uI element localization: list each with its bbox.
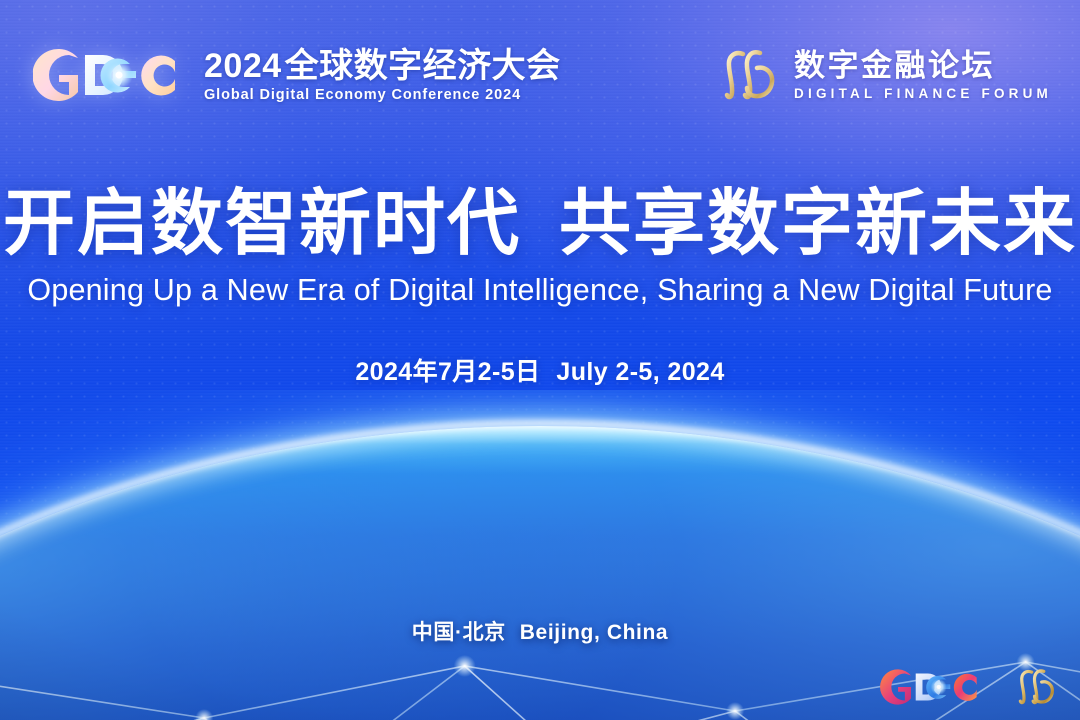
- digital-finance-forum-monogram: [718, 46, 780, 104]
- gdec-title-cn: 2024全球数字经济大会: [204, 49, 561, 85]
- conference-backdrop: 2024全球数字经济大会 Global Digital Economy Conf…: [0, 0, 1080, 720]
- headline-cn-part2: 共享数字新未来: [559, 184, 1077, 264]
- gdec-title-en: Global Digital Economy Conference 2024: [204, 87, 561, 103]
- headline-en: Opening Up a New Era of Digital Intellig…: [0, 273, 1080, 308]
- dff-title-en: DIGITAL FINANCE FORUM: [794, 86, 1052, 101]
- digital-finance-forum-text: 数字金融论坛 DIGITAL FINANCE FORUM: [794, 49, 1052, 100]
- gdec-conference-logo: 2024全球数字经济大会 Global Digital Economy Conf…: [33, 44, 561, 106]
- headline-cn-part1: 开启数智新时代: [3, 184, 521, 264]
- event-dateline: 2024年7月2-5日July 2-5, 2024: [0, 352, 1080, 388]
- headline-cn: 开启数智新时代共享数字新未来: [0, 186, 1080, 264]
- dff-title-cn: 数字金融论坛: [794, 49, 1052, 82]
- gdec-logo-mark: [33, 44, 191, 106]
- event-date-en: July 2-5, 2024: [556, 358, 724, 386]
- event-location-cn: 中国·北京: [412, 621, 506, 644]
- gdec-title-cn-words: 全球数字经济大会: [285, 47, 561, 85]
- headline-block: 开启数智新时代共享数字新未来 Opening Up a New Era of D…: [0, 186, 1080, 308]
- gdec-logo-mark: [880, 666, 988, 708]
- event-location-en: Beijing, China: [520, 621, 668, 644]
- gdec-logo-text: 2024全球数字经济大会 Global Digital Economy Conf…: [204, 47, 561, 103]
- event-location: 中国·北京Beijing, China: [0, 616, 1080, 646]
- event-date-cn: 2024年7月2-5日: [355, 358, 540, 386]
- footer-logo-row: [880, 666, 1058, 708]
- digital-finance-forum-logo: 数字金融论坛 DIGITAL FINANCE FORUM: [718, 46, 1052, 104]
- digital-finance-forum-monogram: [1014, 666, 1058, 708]
- gdec-title-year: 2024: [204, 47, 282, 85]
